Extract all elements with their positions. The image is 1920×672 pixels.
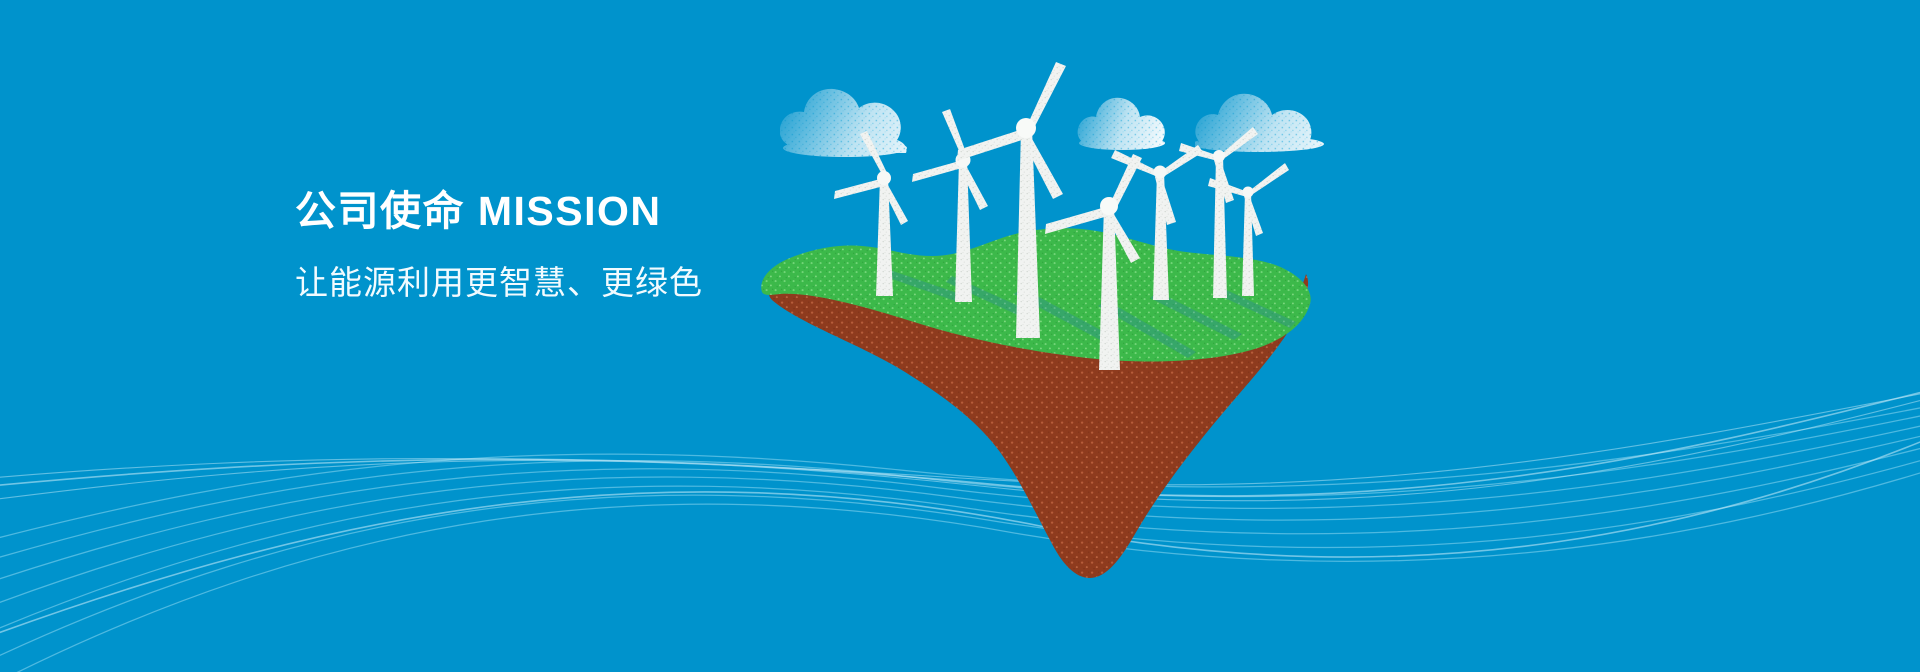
cloud-icon-left — [780, 89, 907, 157]
page-title: 公司使命 MISSION — [295, 188, 1055, 235]
mission-text-block: 公司使命 MISSION 让能源利用更智慧、更绿色 — [295, 188, 1055, 303]
page-subtitle: 让能源利用更智慧、更绿色 — [295, 263, 1055, 303]
cloud-icon-middle — [1078, 98, 1165, 150]
island-illustration — [0, 0, 1920, 672]
mission-banner: 公司使命 MISSION 让能源利用更智慧、更绿色 — [0, 0, 1920, 672]
cloud-icon-right — [1192, 94, 1324, 152]
